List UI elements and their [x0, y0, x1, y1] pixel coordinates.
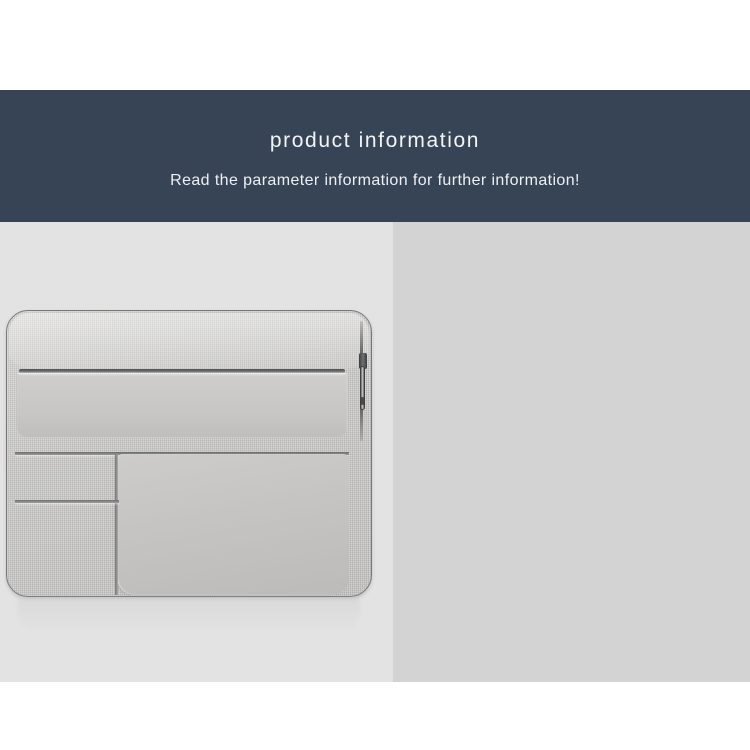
small-pocket-seam: [15, 500, 119, 503]
front-zip-pocket-flap: [17, 373, 347, 437]
front-zip-pocket-seam: [19, 369, 345, 373]
laptop-sleeve-illustration: [6, 310, 372, 597]
header-banner: product information Read the parameter i…: [0, 90, 750, 222]
vertical-pocket-seam: [115, 454, 118, 595]
zipper-tab-hole: [361, 397, 364, 405]
product-image-panel: [0, 222, 393, 682]
large-front-pocket: [117, 454, 349, 595]
page-title: product information: [270, 130, 480, 151]
spec-table-panel: inch external internal weight 11.6 33.5×…: [393, 222, 750, 682]
content-area: inch external internal weight 11.6 33.5×…: [0, 222, 750, 682]
zipper-pull-icon: [356, 353, 369, 415]
sleeve-reflection: [18, 598, 360, 632]
product-information-page: product information Read the parameter i…: [0, 0, 750, 750]
page-subtitle: Read the parameter information for furth…: [170, 173, 580, 189]
product-photo: [0, 222, 393, 682]
